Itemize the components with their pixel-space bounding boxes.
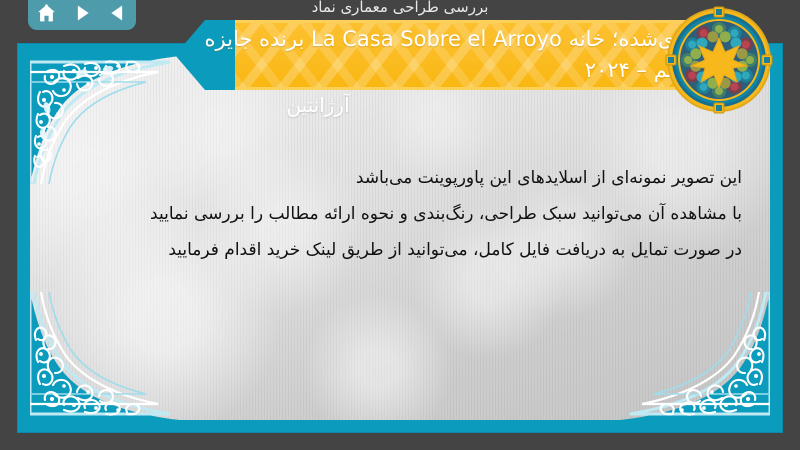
slide-title-band: بازسازی‌شده؛ خانه La Casa Sobre el Arroy… xyxy=(175,20,745,90)
home-icon xyxy=(36,3,57,24)
body-line: در صورت تمایل به دریافت فایل کامل، می‌تو… xyxy=(42,232,742,268)
slide-title: بازسازی‌شده؛ خانه La Casa Sobre el Arroy… xyxy=(185,20,731,90)
navigation-toolbar xyxy=(28,0,136,30)
arabesque-corner-ornament-bottom-right xyxy=(620,292,770,420)
home-button[interactable] xyxy=(32,0,60,26)
slide-subtitle: آرژانتین xyxy=(18,92,618,118)
arabesque-corner-ornament-bottom-left xyxy=(30,292,180,420)
presentation-viewer: بررسی طراحی معماری نماد xyxy=(0,0,800,450)
previous-slide-button[interactable] xyxy=(104,0,132,26)
persian-mandala-medallion xyxy=(665,6,773,114)
body-line: با مشاهده آن می‌توانید سبک طراحی، رنگ‌بن… xyxy=(42,196,742,232)
triangle-left-icon xyxy=(108,3,128,23)
slide-body-text: این تصویر نمونه‌ای از اسلایدهای این پاور… xyxy=(42,160,742,268)
body-line: این تصویر نمونه‌ای از اسلایدهای این پاور… xyxy=(42,160,742,196)
triangle-right-icon xyxy=(72,3,92,23)
next-slide-button[interactable] xyxy=(68,0,96,26)
